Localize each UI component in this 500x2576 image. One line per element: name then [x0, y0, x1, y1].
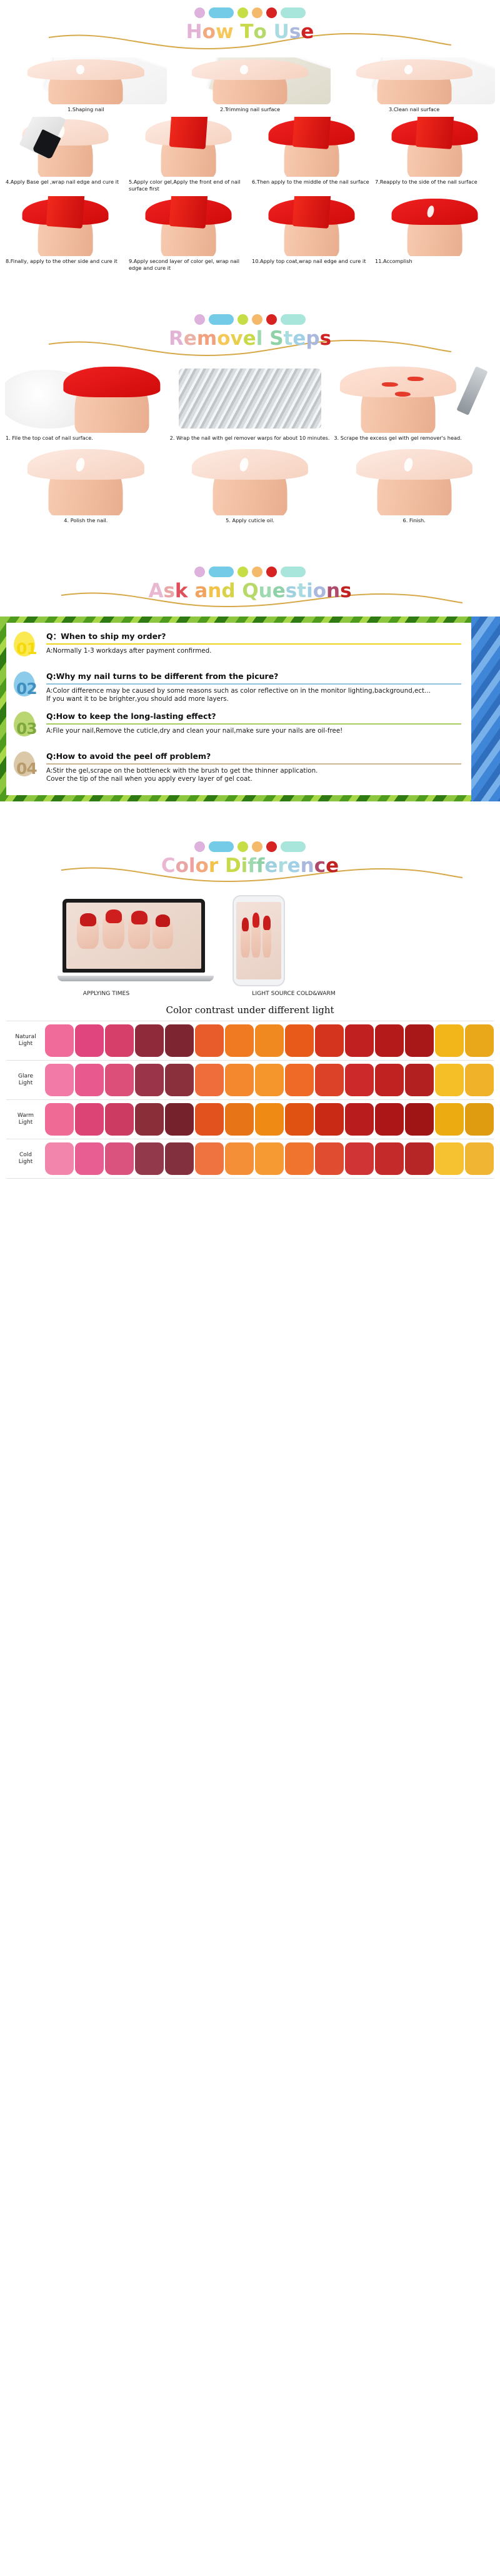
title-letter: H: [186, 17, 202, 46]
color-swatch: [45, 1103, 74, 1136]
title-letter: [234, 17, 241, 46]
swatch-cells: [45, 1021, 494, 1060]
decorative-pills: [0, 7, 500, 18]
phone-screen: [236, 902, 281, 979]
title-letter: s: [163, 577, 174, 605]
color-swatch: [225, 1024, 254, 1057]
page-title-faq: Ask and Questions: [0, 577, 500, 605]
removal-caption-5: 5. Apply cuticle oil.: [169, 515, 331, 524]
title-letter: o: [313, 577, 326, 605]
swatch-cells: [45, 1100, 494, 1139]
color-swatch: [375, 1064, 404, 1096]
section-header-how-to-use: How To Use: [0, 0, 500, 57]
row-label-warm: WarmLight: [6, 1100, 45, 1139]
title-letter: T: [240, 17, 253, 46]
faq-content: 01 Q：When to ship my order? A:Normally 1…: [6, 623, 471, 795]
title-letter: r: [277, 851, 287, 880]
color-swatch: [285, 1103, 314, 1136]
color-swatch: [405, 1103, 434, 1136]
page-title-removal-steps: Removel Steps: [0, 324, 500, 353]
pill-dot-green: [237, 7, 248, 18]
color-swatch: [75, 1024, 104, 1057]
pill-dot-red: [266, 567, 277, 577]
title-letter: e: [292, 324, 306, 353]
color-swatch: [225, 1142, 254, 1175]
color-swatch: [375, 1103, 404, 1136]
step-card-7: 7.Reapply to the side of the nail surfac…: [374, 117, 495, 192]
phone-mockup: [232, 895, 285, 986]
color-swatch: [135, 1064, 164, 1096]
faq-badge-04: 04: [12, 751, 42, 784]
color-swatch: [195, 1024, 224, 1057]
color-swatch: [465, 1103, 494, 1136]
step-caption-7: 7.Reapply to the side of the nail surfac…: [374, 177, 495, 186]
device-labels: APPLYING TIMES LIGHT SOURCE COLD&WARM: [0, 990, 500, 997]
removal-card-6: 6. Finish.: [333, 447, 495, 524]
faq-rule: [46, 723, 461, 725]
title-letter: f: [256, 851, 265, 880]
title-letter: s: [286, 577, 297, 605]
step-photo-8: [5, 196, 126, 256]
title-letter: o: [217, 324, 230, 353]
section-header-color-difference: Color Difference: [0, 834, 500, 891]
title-letter: D: [225, 851, 241, 880]
title-letter: k: [175, 577, 188, 605]
faq-answer: A:Color difference may be caused by some…: [46, 687, 461, 703]
color-swatch: [465, 1024, 494, 1057]
color-swatch: [195, 1064, 224, 1096]
title-letter: R: [169, 324, 184, 353]
removal-card-2: 2. Wrap the nail with gel remover warps …: [169, 364, 331, 442]
step-card-11: 11.Accomplish: [374, 196, 495, 272]
title-letter: f: [247, 851, 256, 880]
step-caption-1: 1.Shaping nail: [5, 104, 167, 113]
pill-dot-green: [237, 314, 248, 325]
step-caption-11: 11.Accomplish: [374, 256, 495, 265]
title-letter: u: [259, 577, 272, 605]
row-label-natural: NaturalLight: [6, 1021, 45, 1060]
color-swatch: [435, 1024, 464, 1057]
color-swatch: [75, 1064, 104, 1096]
color-swatch: [345, 1064, 374, 1096]
faq-rule: [46, 763, 461, 765]
color-swatch: [105, 1103, 134, 1136]
decorative-pills-color: [0, 841, 500, 852]
color-swatch: [105, 1064, 134, 1096]
section-header-removal-steps: Removel Steps: [0, 307, 500, 364]
title-letter: w: [216, 17, 234, 46]
title-letter: t: [297, 577, 306, 605]
removal-row-2: 4. Polish the nail. 5. Apply cuticle oil…: [0, 447, 500, 524]
title-letter: S: [269, 324, 283, 353]
pill-dot-red: [266, 7, 277, 18]
color-swatch: [165, 1103, 194, 1136]
swatch-table: NaturalLight GlareLight WarmLight ColdLi…: [0, 1021, 500, 1189]
step-photo-6: [251, 117, 372, 177]
color-swatch: [345, 1103, 374, 1136]
title-letter: e: [272, 577, 286, 605]
faq-item: 01 Q：When to ship my order? A:Normally 1…: [12, 632, 461, 664]
color-swatch: [45, 1024, 74, 1057]
removal-caption-6: 6. Finish.: [333, 515, 495, 524]
pill-bar-blue: [209, 567, 234, 577]
color-swatch: [315, 1064, 344, 1096]
steps-row-3: 8.Finally, apply to the other side and c…: [0, 196, 500, 272]
color-swatch: [435, 1064, 464, 1096]
color-swatch: [165, 1024, 194, 1057]
step-card-6: 6.Then apply to the middle of the nail s…: [251, 117, 372, 192]
pill-dot-purple: [194, 567, 205, 577]
color-swatch: [255, 1103, 284, 1136]
pill-bar-mint: [281, 314, 306, 325]
color-swatch: [285, 1024, 314, 1057]
color-swatch: [375, 1024, 404, 1057]
faq-badge-02: 02: [12, 671, 42, 704]
step-photo-11: [374, 196, 495, 256]
removal-photo-3: [333, 364, 495, 433]
faq-answer: A:File your nail,Remove the cuticle,dry …: [46, 727, 461, 735]
table-row: ColdLight: [6, 1139, 494, 1179]
step-caption-6: 6.Then apply to the middle of the nail s…: [251, 177, 372, 186]
color-swatch: [315, 1142, 344, 1175]
title-letter: o: [176, 851, 189, 880]
color-swatch: [375, 1142, 404, 1175]
step-caption-2: 2.Trimming nail surface: [169, 104, 331, 113]
page-title-color-difference: Color Difference: [0, 851, 500, 880]
faq-item: 03 Q:How to keep the long-lasting effect…: [12, 711, 461, 744]
title-letter: o: [196, 851, 209, 880]
color-swatch: [165, 1142, 194, 1175]
laptop-label: APPLYING TIMES: [0, 990, 212, 997]
pill-dot-green: [237, 567, 248, 577]
pill-bar-mint: [281, 567, 306, 577]
title-letter: l: [256, 324, 263, 353]
removal-card-1: 1. File the top coat of nail surface.: [5, 364, 167, 442]
pill-dot-purple: [194, 841, 205, 852]
title-letter: e: [264, 851, 277, 880]
table-row: GlareLight: [6, 1060, 494, 1099]
color-swatch: [165, 1064, 194, 1096]
step-caption-8: 8.Finally, apply to the other side and c…: [5, 256, 126, 265]
color-swatch: [45, 1142, 74, 1175]
step-caption-4: 4.Apply Base gel ,wrap nail edge and cur…: [5, 177, 126, 186]
step-card-1: 1.Shaping nail: [5, 57, 167, 113]
laptop-screen: [62, 899, 205, 973]
step-card-5: 5.Apply color gel,Apply the front end of…: [128, 117, 249, 192]
steps-row-1: 1.Shaping nail 2.Trimming nail surface 3…: [0, 57, 500, 113]
title-letter: r: [209, 851, 218, 880]
title-letter: v: [231, 324, 243, 353]
removal-caption-1: 1. File the top coat of nail surface.: [5, 433, 167, 442]
title-letter: [188, 577, 195, 605]
removal-photo-4: [5, 447, 167, 515]
pill-bar-mint: [281, 7, 306, 18]
color-swatch: [345, 1142, 374, 1175]
faq-rule: [46, 683, 461, 685]
pill-dot-purple: [194, 7, 205, 18]
color-swatch: [135, 1024, 164, 1057]
removal-card-5: 5. Apply cuticle oil.: [169, 447, 331, 524]
pill-dot-orange: [252, 841, 262, 852]
faq-badge-03: 03: [12, 711, 42, 744]
title-letter: l: [189, 851, 196, 880]
decorative-pills-faq: [0, 567, 500, 577]
pill-dot-purple: [194, 314, 205, 325]
color-swatch: [255, 1064, 284, 1096]
title-letter: e: [287, 851, 301, 880]
title-letter: i: [306, 577, 313, 605]
removal-photo-2: [169, 364, 331, 433]
color-swatch: [75, 1103, 104, 1136]
faq-question: Q:Why my nail turns to be different from…: [46, 671, 461, 683]
color-swatch: [195, 1142, 224, 1175]
title-letter: A: [148, 577, 163, 605]
color-swatch: [45, 1064, 74, 1096]
step-card-3: 3.Clean nail surface: [333, 57, 495, 113]
color-swatch: [435, 1142, 464, 1175]
faq-answer: A:Normally 1-3 workdays after payment co…: [46, 647, 461, 655]
faq-number: 01: [16, 640, 37, 658]
title-letter: t: [284, 324, 293, 353]
title-letter: n: [207, 577, 221, 605]
step-card-4: 4.Apply Base gel ,wrap nail edge and cur…: [5, 117, 126, 192]
faq-question: Q：When to ship my order?: [46, 632, 461, 643]
steps-row-2: 4.Apply Base gel ,wrap nail edge and cur…: [0, 117, 500, 192]
device-comparison: [0, 895, 500, 989]
product-detail-page: How To Use 1.Shaping nail 2.Trimming nai…: [0, 0, 500, 1189]
decorative-pills-removal: [0, 314, 500, 325]
step-card-10: 10.Apply top coat,wrap nail edge and cur…: [251, 196, 372, 272]
step-photo-5: [128, 117, 249, 177]
swatch-cells: [45, 1061, 494, 1099]
laptop-mockup: [57, 899, 214, 981]
removal-photo-6: [333, 447, 495, 515]
faq-question: Q:How to avoid the peel off problem?: [46, 751, 461, 763]
row-label-cold: ColdLight: [6, 1139, 45, 1178]
title-letter: n: [326, 577, 340, 605]
title-letter: n: [301, 851, 314, 880]
laptop-base: [57, 976, 214, 981]
color-swatch: [105, 1024, 134, 1057]
title-letter: d: [221, 577, 235, 605]
removal-photo-5: [169, 447, 331, 515]
color-swatch: [195, 1103, 224, 1136]
step-card-2: 2.Trimming nail surface: [169, 57, 331, 113]
color-swatch: [285, 1064, 314, 1096]
faq-badge-01: 01: [12, 632, 42, 664]
pill-bar-mint: [281, 841, 306, 852]
faq-decorative-frame: 01 Q：When to ship my order? A:Normally 1…: [0, 617, 500, 801]
removal-caption-4: 4. Polish the nail.: [5, 515, 167, 524]
step-photo-3: [333, 57, 495, 104]
step-caption-9: 9.Apply second layer of color gel, wrap …: [128, 256, 249, 272]
step-photo-9: [128, 196, 249, 256]
pill-bar-blue: [209, 841, 234, 852]
color-swatch: [345, 1024, 374, 1057]
page-title-how-to-use: How To Use: [0, 17, 500, 46]
step-card-9: 9.Apply second layer of color gel, wrap …: [128, 196, 249, 272]
title-letter: o: [254, 17, 267, 46]
title-letter: [236, 577, 242, 605]
faq-question: Q:How to keep the long-lasting effect?: [46, 711, 461, 723]
removal-card-3: 3. Scrape the excess gel with gel remove…: [333, 364, 495, 442]
title-letter: [218, 851, 225, 880]
removal-card-4: 4. Polish the nail.: [5, 447, 167, 524]
title-letter: p: [306, 324, 319, 353]
title-letter: C: [161, 851, 176, 880]
laptop-screen-image: [66, 903, 201, 969]
removal-caption-3: 3. Scrape the excess gel with gel remove…: [333, 433, 495, 442]
color-swatch: [405, 1064, 434, 1096]
title-letter: [267, 17, 274, 46]
color-swatch: [285, 1142, 314, 1175]
swatch-cells: [45, 1139, 494, 1178]
removal-row-1: 1. File the top coat of nail surface. 2.…: [0, 364, 500, 442]
color-swatch: [315, 1024, 344, 1057]
step-caption-3: 3.Clean nail surface: [333, 104, 495, 113]
pill-dot-orange: [252, 7, 262, 18]
color-swatch: [135, 1142, 164, 1175]
pill-dot-orange: [252, 314, 262, 325]
pill-dot-red: [266, 314, 277, 325]
title-letter: [262, 324, 269, 353]
title-letter: a: [194, 577, 207, 605]
faq-item: 02 Q:Why my nail turns to be different f…: [12, 671, 461, 704]
phone-label: LIGHT SOURCE COLD&WARM: [212, 990, 375, 997]
color-swatch: [225, 1103, 254, 1136]
color-swatch: [465, 1064, 494, 1096]
color-swatch: [225, 1064, 254, 1096]
color-swatch: [255, 1142, 284, 1175]
step-photo-10: [251, 196, 372, 256]
title-letter: s: [320, 324, 331, 353]
step-caption-5: 5.Apply color gel,Apply the front end of…: [128, 177, 249, 192]
title-letter: o: [202, 17, 216, 46]
contrast-title: Color contrast under different light: [0, 1004, 500, 1016]
section-header-faq: Ask and Questions: [0, 559, 500, 617]
removal-caption-2: 2. Wrap the nail with gel remover warps …: [169, 433, 331, 442]
color-swatch: [465, 1142, 494, 1175]
color-swatch: [75, 1142, 104, 1175]
pill-dot-red: [266, 841, 277, 852]
removal-photo-1: [5, 364, 167, 433]
title-letter: i: [241, 851, 248, 880]
step-caption-10: 10.Apply top coat,wrap nail edge and cur…: [251, 256, 372, 265]
color-swatch: [105, 1142, 134, 1175]
step-card-8: 8.Finally, apply to the other side and c…: [5, 196, 126, 272]
title-letter: e: [243, 324, 256, 353]
faq-answer: A:Stir the gel,scrape on the bottleneck …: [46, 767, 461, 783]
faq-item: 04 Q:How to avoid the peel off problem? …: [12, 751, 461, 784]
color-swatch: [405, 1142, 434, 1175]
title-letter: U: [274, 17, 289, 46]
title-letter: Q: [242, 577, 258, 605]
step-photo-1: [5, 57, 167, 104]
title-letter: s: [340, 577, 351, 605]
table-row: WarmLight: [6, 1099, 494, 1139]
step-photo-4: [5, 117, 126, 177]
faq-number: 04: [16, 760, 37, 778]
faq-section: 01 Q：When to ship my order? A:Normally 1…: [0, 617, 500, 801]
color-swatch: [435, 1103, 464, 1136]
title-letter: m: [197, 324, 217, 353]
title-letter: s: [289, 17, 301, 46]
color-swatch: [135, 1103, 164, 1136]
pill-bar-blue: [209, 7, 234, 18]
faq-rule: [46, 643, 461, 645]
faq-number: 02: [16, 680, 37, 698]
pill-dot-green: [237, 841, 248, 852]
pill-bar-blue: [209, 314, 234, 325]
title-letter: e: [301, 17, 314, 46]
pill-dot-orange: [252, 567, 262, 577]
title-letter: e: [326, 851, 339, 880]
color-swatch: [315, 1103, 344, 1136]
faq-number: 03: [16, 720, 37, 738]
row-label-glare: GlareLight: [6, 1061, 45, 1099]
title-letter: e: [184, 324, 197, 353]
color-swatch: [405, 1024, 434, 1057]
step-photo-2: [169, 57, 331, 104]
step-photo-7: [374, 117, 495, 177]
color-swatch: [255, 1024, 284, 1057]
table-row: NaturalLight: [6, 1021, 494, 1060]
title-letter: c: [314, 851, 326, 880]
